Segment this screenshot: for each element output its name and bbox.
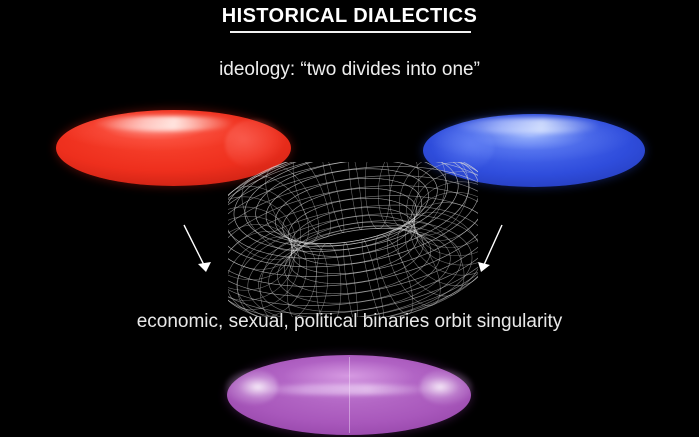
purple-ellipsoid-highlight bbox=[256, 384, 437, 395]
arrow-right-to-center bbox=[468, 220, 510, 282]
arrow-left-svg bbox=[178, 220, 220, 282]
ideology-subtitle: ideology: “two divides into one” bbox=[0, 59, 699, 81]
red-ellipsoid-highlight bbox=[94, 116, 240, 131]
binaries-caption: economic, sexual, political binaries orb… bbox=[0, 311, 699, 333]
arrow-left-shaft bbox=[184, 225, 205, 267]
purple-ellipsoid bbox=[227, 355, 471, 435]
purple-ellipsoid-seam bbox=[349, 357, 350, 434]
purple-ellipsoid-left-tip-light bbox=[225, 369, 279, 404]
torus-svg bbox=[228, 162, 478, 317]
wireframe-torus-singularity bbox=[228, 162, 478, 317]
arrow-right-svg bbox=[468, 220, 510, 282]
blue-ellipsoid-highlight bbox=[454, 118, 605, 134]
arrow-right-head bbox=[478, 262, 490, 272]
arrow-right-shaft bbox=[483, 225, 502, 267]
title-underline bbox=[230, 31, 471, 33]
torus-mesh-lines bbox=[228, 162, 478, 317]
slide-canvas: HISTORICAL DIALECTICS ideology: “two div… bbox=[0, 0, 699, 437]
arrow-left-head bbox=[198, 262, 211, 272]
purple-ellipsoid-right-tip-light bbox=[420, 369, 474, 404]
arrow-left-to-center bbox=[178, 220, 220, 282]
page-title: HISTORICAL DIALECTICS bbox=[0, 5, 699, 28]
